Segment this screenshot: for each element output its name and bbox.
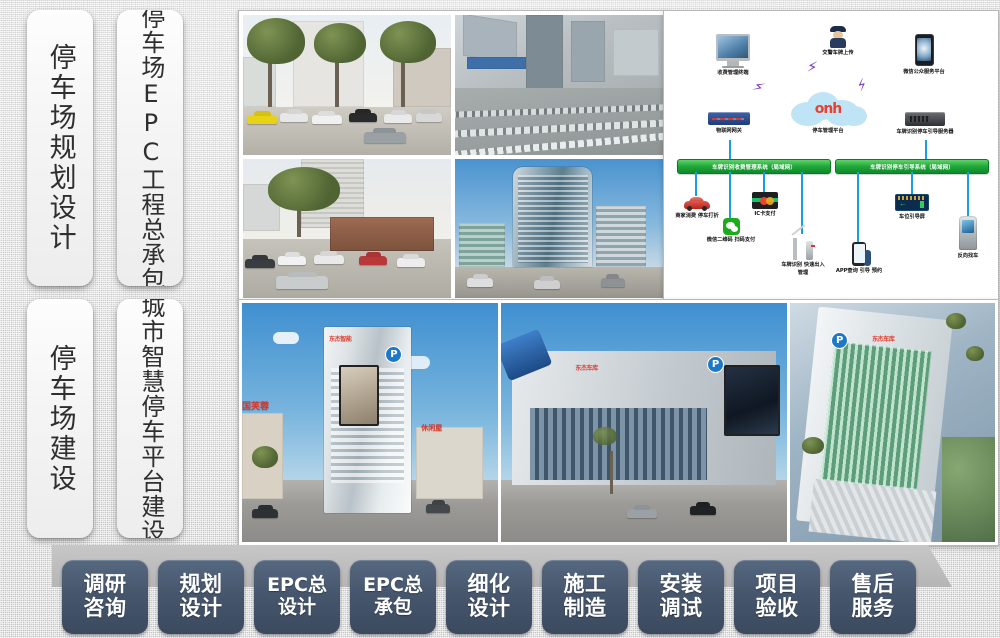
item-label-reverse-find-car: 反向找车 bbox=[947, 253, 989, 261]
process-step-survey[interactable]: 调研 咨询 bbox=[62, 560, 148, 634]
brand-logo: 东杰车库 bbox=[872, 334, 894, 343]
process-step-epc-design[interactable]: EPC总 设计 bbox=[254, 560, 340, 634]
parking-badge-icon: P bbox=[831, 332, 848, 349]
network-gateway-icon bbox=[708, 112, 750, 125]
multi-storey-garage-render[interactable]: 东杰车库 P bbox=[501, 303, 787, 542]
process-step-epc-contract[interactable]: EPC总 承包 bbox=[350, 560, 436, 634]
render-gallery-panel: 东杰智能 P 国芙蓉 休闲屋 东杰车库 P bbox=[238, 299, 999, 546]
street-surface-parking-photo[interactable] bbox=[243, 15, 451, 155]
category-card-epc-contracting[interactable]: 停车场EPC工程总承包 bbox=[117, 10, 183, 286]
step-line-1: EPC总 bbox=[363, 575, 423, 597]
cloud-platform-label: 停车管理平台 bbox=[775, 128, 881, 136]
process-step-after-sales[interactable]: 售后 服务 bbox=[830, 560, 916, 634]
step-line-1: 施工 bbox=[564, 573, 607, 597]
step-line-1: 售后 bbox=[852, 573, 895, 597]
parking-badge-icon: P bbox=[707, 356, 724, 373]
step-line-1: 安装 bbox=[660, 573, 703, 597]
subsystem-title-lpr-charging: 车牌识别收费管理系统（局域网） bbox=[677, 159, 831, 174]
item-label-lpr-fast-access: 车牌识别 快速出入管理 bbox=[779, 262, 827, 277]
photo-grid bbox=[243, 15, 663, 298]
step-line-2: 承包 bbox=[374, 597, 412, 619]
cloud-logo: onh bbox=[785, 101, 871, 117]
step-line-2: 制造 bbox=[564, 597, 607, 621]
step-line-2: 设计 bbox=[278, 597, 316, 619]
tower-garage-render[interactable]: 东杰智能 P 国芙蓉 休闲屋 bbox=[242, 303, 498, 542]
ic-card-icon bbox=[752, 192, 778, 209]
process-step-manufacturing[interactable]: 施工 制造 bbox=[542, 560, 628, 634]
step-line-2: 设计 bbox=[180, 597, 223, 621]
step-line-1: 细化 bbox=[468, 573, 511, 597]
cloud-platform-icon: onh bbox=[785, 90, 871, 130]
process-step-detailed-design[interactable]: 细化 设计 bbox=[446, 560, 532, 634]
led-guide-screen-icon: ← bbox=[895, 194, 929, 211]
system-architecture-panel: ⚡ ⚡ ⚡ onh 停车管理平台 收费管理终端 bbox=[663, 10, 999, 301]
brand-logo: 东杰车库 bbox=[575, 363, 597, 372]
system-architecture-diagram: ⚡ ⚡ ⚡ onh 停车管理平台 收费管理终端 bbox=[667, 14, 995, 297]
step-line-1: 规划 bbox=[180, 573, 223, 597]
process-step-acceptance[interactable]: 项目 验收 bbox=[734, 560, 820, 634]
aerial-tower-garage-render[interactable]: 东杰车库 P bbox=[790, 303, 995, 542]
category-label: 停车场EPC工程总承包 bbox=[136, 10, 164, 286]
node-label-wechat-platform: 微信公众服务平台 bbox=[885, 69, 963, 77]
connector-line bbox=[729, 172, 731, 218]
traffic-police-icon bbox=[829, 26, 847, 48]
wechat-icon bbox=[723, 218, 740, 235]
lightning-icon: ⚡ bbox=[806, 59, 818, 75]
connector-line bbox=[695, 172, 697, 196]
item-label-space-guide-screen: 车位引导屏 bbox=[889, 214, 935, 222]
node-label-charging-terminal: 收费管理终端 bbox=[703, 70, 763, 78]
step-line-2: 调试 bbox=[660, 597, 703, 621]
category-label: 城市智慧停车平台建设 bbox=[136, 299, 164, 538]
lot-with-brick-building-photo[interactable] bbox=[243, 159, 451, 299]
item-label-wechat-qr-pay: 微信二维码 扫码支付 bbox=[705, 237, 757, 245]
connector-line bbox=[763, 172, 765, 192]
step-line-2: 服务 bbox=[852, 597, 895, 621]
node-label-lpr-server: 车牌识别停车引导服务器 bbox=[881, 129, 969, 137]
category-card-construction[interactable]: 停车场建设 bbox=[27, 299, 93, 538]
photo-collage-panel bbox=[238, 10, 668, 303]
node-label-police-upload: 交警车牌上传 bbox=[805, 50, 871, 58]
smartphone-icon bbox=[915, 34, 934, 66]
step-line-1: 调研 bbox=[84, 573, 127, 597]
rack-server-icon bbox=[905, 112, 945, 126]
step-line-1: 项目 bbox=[756, 573, 799, 597]
step-line-2: 设计 bbox=[468, 597, 511, 621]
category-card-smart-platform[interactable]: 城市智慧停车平台建设 bbox=[117, 299, 183, 538]
left-shop-sign: 国芙蓉 bbox=[242, 399, 269, 412]
billboard-screen bbox=[339, 365, 379, 426]
connector-line bbox=[967, 172, 969, 216]
right-shop-sign: 休闲屋 bbox=[421, 423, 442, 433]
app-phone-icon bbox=[852, 242, 866, 266]
item-label-ic-card-pay: IC卡支付 bbox=[745, 211, 785, 219]
item-label-app-query: APP查询 引导 预约 bbox=[835, 268, 883, 276]
category-label: 停车场规划设计 bbox=[44, 37, 75, 259]
step-line-1: EPC总 bbox=[267, 575, 327, 597]
category-label: 停车场建设 bbox=[44, 338, 75, 500]
connector-line bbox=[857, 172, 859, 242]
brand-logo: 东杰智能 bbox=[329, 334, 351, 343]
red-car-icon bbox=[684, 196, 710, 211]
step-line-2: 验收 bbox=[756, 597, 799, 621]
connector-line bbox=[729, 140, 731, 159]
process-step-installation[interactable]: 安装 调试 bbox=[638, 560, 724, 634]
node-label-iot-gateway: 物联网网关 bbox=[691, 128, 767, 136]
barrier-gate-icon bbox=[791, 232, 815, 260]
connector-line bbox=[925, 140, 927, 159]
desktop-monitor-icon bbox=[716, 34, 750, 68]
page-background: 停车场规划设计 停车场EPC工程总承包 停车场建设 城市智慧停车平台建设 bbox=[0, 0, 1000, 638]
step-line-2: 咨询 bbox=[84, 597, 127, 621]
aerial-parking-lot-photo[interactable] bbox=[455, 15, 663, 155]
process-step-planning[interactable]: 规划 设计 bbox=[158, 560, 244, 634]
connector-line bbox=[911, 172, 913, 194]
find-car-kiosk-icon bbox=[959, 216, 977, 250]
glass-office-tower-photo[interactable] bbox=[455, 159, 663, 299]
process-flow: 调研 咨询 规划 设计 EPC总 设计 EPC总 承包 细化 设计 施工 制造 … bbox=[62, 560, 962, 634]
render-row: 东杰智能 P 国芙蓉 休闲屋 东杰车库 P bbox=[242, 303, 995, 542]
lightning-icon: ⚡ bbox=[750, 78, 766, 96]
category-card-planning-design[interactable]: 停车场规划设计 bbox=[27, 10, 93, 286]
billboard-screen bbox=[724, 365, 780, 436]
